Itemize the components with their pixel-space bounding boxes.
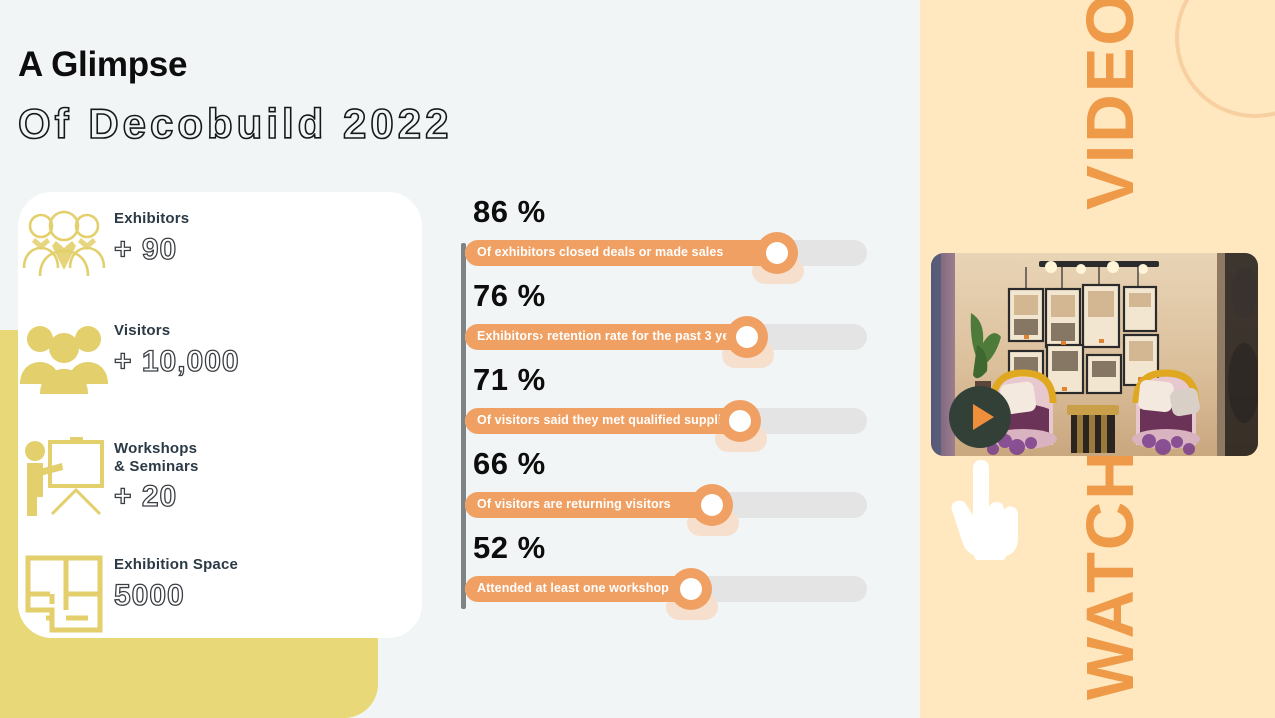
bar-knob[interactable] (670, 568, 712, 610)
bar-item: 76 % Exhibitors› retention rate for the … (461, 280, 881, 364)
bar-caption: Of exhibitors closed deals or made sales (477, 245, 723, 259)
stats-card: Exhibitors + 90 Visitors (18, 192, 422, 638)
play-button[interactable] (949, 386, 1011, 448)
bar-caption: Attended at least one workshop (477, 581, 669, 595)
bar-knob[interactable] (726, 316, 768, 358)
bar-item: 66 % Of visitors are returning visitors (461, 448, 881, 532)
bar-caption: Of visitors said they met qualified supp… (477, 413, 741, 427)
pointing-hand-icon (950, 458, 1024, 562)
stat-value: 5000 (114, 578, 238, 614)
stat-value: + 20 (114, 479, 199, 515)
bar-item: 86 % Of exhibitors closed deals or made … (461, 196, 881, 280)
stat-label-line2: & Seminars (114, 458, 199, 475)
bar-slider[interactable]: Of visitors are returning visitors (465, 488, 867, 522)
stat-item-exhibitors: Exhibitors + 90 (18, 206, 189, 282)
stat-label: Visitors (114, 322, 240, 340)
stat-label: Exhibition Space (114, 556, 238, 574)
bar-knob[interactable] (756, 232, 798, 274)
video-label: VIDEO (1072, 0, 1149, 210)
bar-percent-label: 66 % (461, 448, 881, 479)
stat-label: Exhibitors (114, 210, 189, 228)
workshop-presenter-icon (18, 436, 110, 516)
page-title: A Glimpse (18, 46, 452, 85)
decorative-circle (1175, 0, 1275, 118)
play-triangle-icon (973, 404, 994, 430)
video-panel: VIDEO WATCH (920, 0, 1275, 718)
stat-label-line1: Workshops (114, 440, 197, 457)
bar-slider[interactable]: Exhibitors› retention rate for the past … (465, 320, 867, 354)
visitors-group-icon (18, 318, 110, 394)
stat-item-workshops: Workshops & Seminars + 20 (18, 436, 199, 516)
stat-value: + 10,000 (114, 344, 240, 380)
bar-knob[interactable] (691, 484, 733, 526)
bar-item: 52 % Attended at least one workshop (461, 532, 881, 616)
bar-caption: Exhibitors› retention rate for the past … (477, 329, 748, 343)
bar-slider[interactable]: Of visitors said they met qualified supp… (465, 404, 867, 438)
bar-percent-label: 86 % (461, 196, 881, 227)
exhibitors-group-icon (18, 206, 110, 282)
watch-label: WATCH (1072, 449, 1149, 700)
presentation-slide: A Glimpse Of Decobuild 2022 (0, 0, 1275, 718)
video-thumbnail[interactable] (931, 253, 1258, 456)
floor-plan-icon (18, 552, 110, 636)
bar-slider[interactable]: Of exhibitors closed deals or made sales (465, 236, 867, 270)
stat-item-visitors: Visitors + 10,000 (18, 318, 240, 394)
title-block: A Glimpse Of Decobuild 2022 (18, 46, 452, 147)
bar-percent-label: 52 % (461, 532, 881, 563)
percentage-bars-group: 86 % Of exhibitors closed deals or made … (461, 196, 881, 616)
page-subtitle: Of Decobuild 2022 (18, 101, 452, 147)
bar-slider[interactable]: Attended at least one workshop (465, 572, 867, 606)
stat-label: Workshops & Seminars (114, 440, 199, 475)
stat-item-exhibition-space: Exhibition Space 5000 (18, 552, 238, 636)
bar-item: 71 % Of visitors said they met qualified… (461, 364, 881, 448)
stat-value: + 90 (114, 232, 189, 268)
bar-percent-label: 76 % (461, 280, 881, 311)
bar-knob[interactable] (719, 400, 761, 442)
bar-percent-label: 71 % (461, 364, 881, 395)
bar-caption: Of visitors are returning visitors (477, 497, 671, 511)
